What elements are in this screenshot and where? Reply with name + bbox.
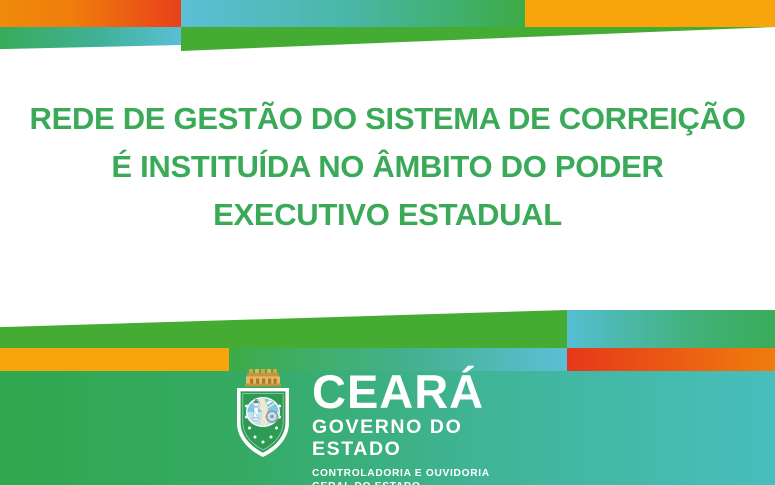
coat-of-arms-icon	[232, 365, 298, 461]
headline-container: REDE DE GESTÃO DO SISTEMA DE CORREIÇÃO É…	[0, 95, 775, 239]
bottom-slant-segment-teal	[567, 310, 775, 348]
top-slant-bar	[0, 27, 775, 60]
banner-canvas: REDE DE GESTÃO DO SISTEMA DE CORREIÇÃO É…	[0, 0, 775, 485]
page-title: REDE DE GESTÃO DO SISTEMA DE CORREIÇÃO É…	[0, 95, 775, 239]
top-decoration	[0, 0, 775, 60]
bottom-slant-segment-green	[0, 310, 567, 348]
logo-state-name: CEARÁ	[312, 370, 542, 414]
top-bar-segment-yellow	[525, 0, 775, 27]
logo-text-block: CEARÁ GOVERNO DO ESTADO CONTROLADORIA E …	[312, 365, 542, 485]
bottom-strip-segment-orange	[0, 348, 229, 371]
top-color-bar	[0, 0, 775, 27]
ceara-logo: CEARÁ GOVERNO DO ESTADO CONTROLADORIA E …	[232, 365, 542, 470]
logo-government-label: GOVERNO DO ESTADO	[312, 416, 542, 460]
logo-agency-line-2: GERAL DO ESTADO	[312, 480, 542, 485]
top-bar-segment-cyan-green	[181, 0, 525, 27]
bottom-strip-segment-red-orange	[567, 348, 775, 371]
top-slant-segment-green	[181, 27, 775, 51]
top-bar-segment-orange	[0, 0, 181, 27]
logo-agency-line-1: CONTROLADORIA E OUVIDORIA	[312, 467, 542, 480]
